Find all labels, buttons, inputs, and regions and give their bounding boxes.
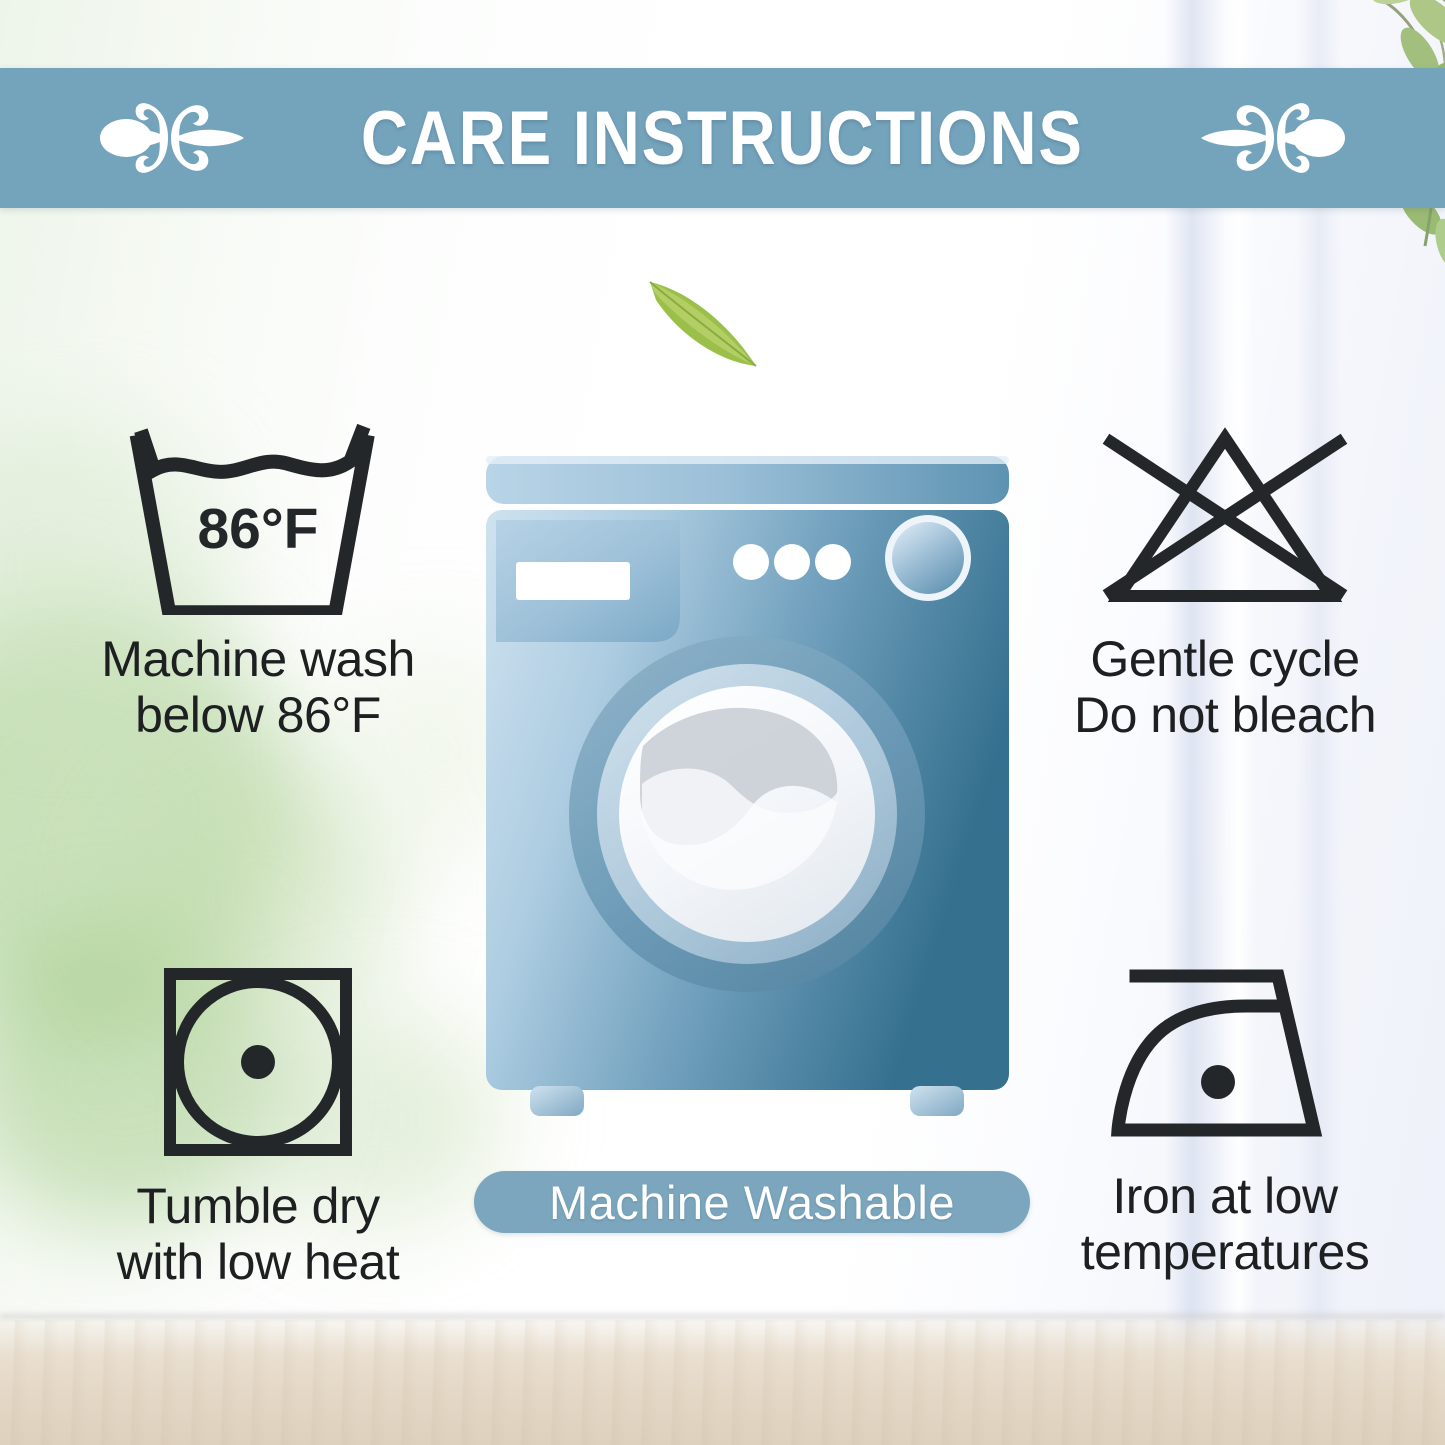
- detergent-drawer: [496, 520, 680, 642]
- caption-line: Tumble dry: [117, 1178, 400, 1234]
- low-heat-dot: [241, 1045, 275, 1079]
- table-edge-highlight: [0, 1310, 1445, 1319]
- control-buttons: [733, 544, 851, 580]
- control-knob: [885, 515, 971, 601]
- control-button: [774, 544, 810, 580]
- wash-tub-icon: 86°F: [128, 420, 388, 615]
- caption-line: Iron at low: [1081, 1168, 1370, 1224]
- washer-foot: [530, 1086, 584, 1116]
- care-instructions-infographic: CARE INSTRUCTIONS: [0, 0, 1445, 1445]
- caption-line: temperatures: [1081, 1224, 1370, 1280]
- wash-temperature-label: 86°F: [197, 497, 318, 561]
- machine-washable-badge: Machine Washable: [474, 1171, 1030, 1233]
- washer-top-lid: [486, 456, 1009, 504]
- caption-tumble-dry: Tumble dry with low heat: [117, 1178, 400, 1290]
- caption-line: with low heat: [117, 1234, 400, 1290]
- caption-line: Do not bleach: [1074, 687, 1376, 743]
- caption-line: Machine wash: [101, 631, 415, 687]
- washer-door-window: [569, 636, 925, 992]
- control-button: [733, 544, 769, 580]
- fleur-de-lis-icon: [1199, 82, 1349, 194]
- iron-icon: [1100, 962, 1350, 1152]
- tumble-dry-square-circle-icon: [158, 962, 358, 1162]
- care-symbol-iron: Iron at low temperatures: [1015, 962, 1435, 1280]
- low-temperature-dot: [1201, 1065, 1235, 1099]
- care-symbol-do-not-bleach: Gentle cycle Do not bleach: [1015, 420, 1435, 743]
- page-title: CARE INSTRUCTIONS: [361, 95, 1084, 182]
- caption-machine-wash: Machine wash below 86°F: [101, 631, 415, 743]
- control-button: [815, 544, 851, 580]
- header-banner: CARE INSTRUCTIONS: [0, 68, 1445, 208]
- washer-feet: [530, 1086, 964, 1116]
- status-badge: Machine Washable: [549, 1175, 955, 1230]
- fleur-de-lis-icon: [96, 82, 246, 194]
- caption-iron: Iron at low temperatures: [1081, 1168, 1370, 1280]
- care-symbol-machine-wash: 86°F Machine wash below 86°F: [48, 420, 468, 743]
- green-leaf-icon: [640, 270, 770, 380]
- caption-do-not-bleach: Gentle cycle Do not bleach: [1074, 631, 1376, 743]
- caption-line: Gentle cycle: [1074, 631, 1376, 687]
- washer-foot: [910, 1086, 964, 1116]
- caption-line: below 86°F: [101, 687, 415, 743]
- wood-grain-texture: [0, 1320, 1445, 1445]
- care-symbol-tumble-dry: Tumble dry with low heat: [48, 962, 468, 1290]
- washing-machine-illustration: [470, 446, 1025, 1126]
- triangle-crossed-out-icon: [1095, 420, 1355, 615]
